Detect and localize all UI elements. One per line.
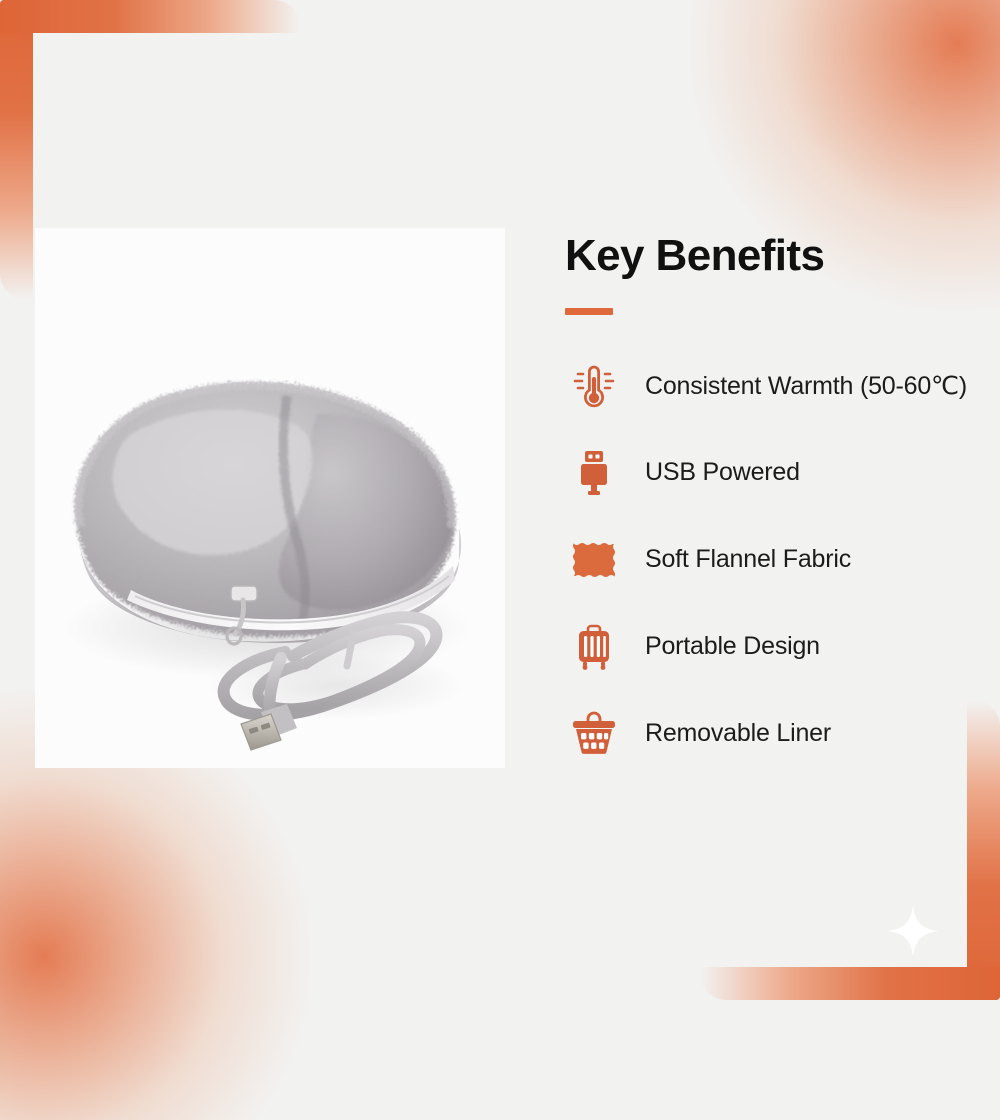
benefits-section: Key Benefits Consistent Warmth (50-60℃) [565,232,995,763]
title-accent-bar [565,308,613,315]
thermometer-icon [565,359,623,413]
corner-bracket-top-left-horizontal [0,0,300,33]
benefit-item-liner: Removable Liner [565,705,995,763]
laundry-basket-icon [565,707,623,761]
benefit-item-usb: USB Powered [565,444,995,502]
benefits-list: Consistent Warmth (50-60℃) USB Powered [565,357,995,763]
product-photo-panel [35,228,505,768]
corner-bracket-bottom-right-horizontal [700,967,1000,1000]
corner-bracket-top-left-vertical [0,0,33,300]
benefit-label: Consistent Warmth (50-60℃) [645,371,967,401]
benefit-item-fabric: Soft Flannel Fabric [565,531,995,589]
benefit-label: Removable Liner [645,719,831,748]
suitcase-icon [565,620,623,674]
fabric-swatch-icon [565,533,623,587]
sparkle-icon [886,904,940,958]
benefit-item-warmth: Consistent Warmth (50-60℃) [565,357,995,415]
usb-plug-icon [565,446,623,500]
benefit-label: Portable Design [645,632,820,661]
benefit-label: USB Powered [645,458,800,487]
product-photo [35,228,505,768]
page-title: Key Benefits [565,232,995,280]
benefit-label: Soft Flannel Fabric [645,545,851,574]
benefit-item-portable: Portable Design [565,618,995,676]
